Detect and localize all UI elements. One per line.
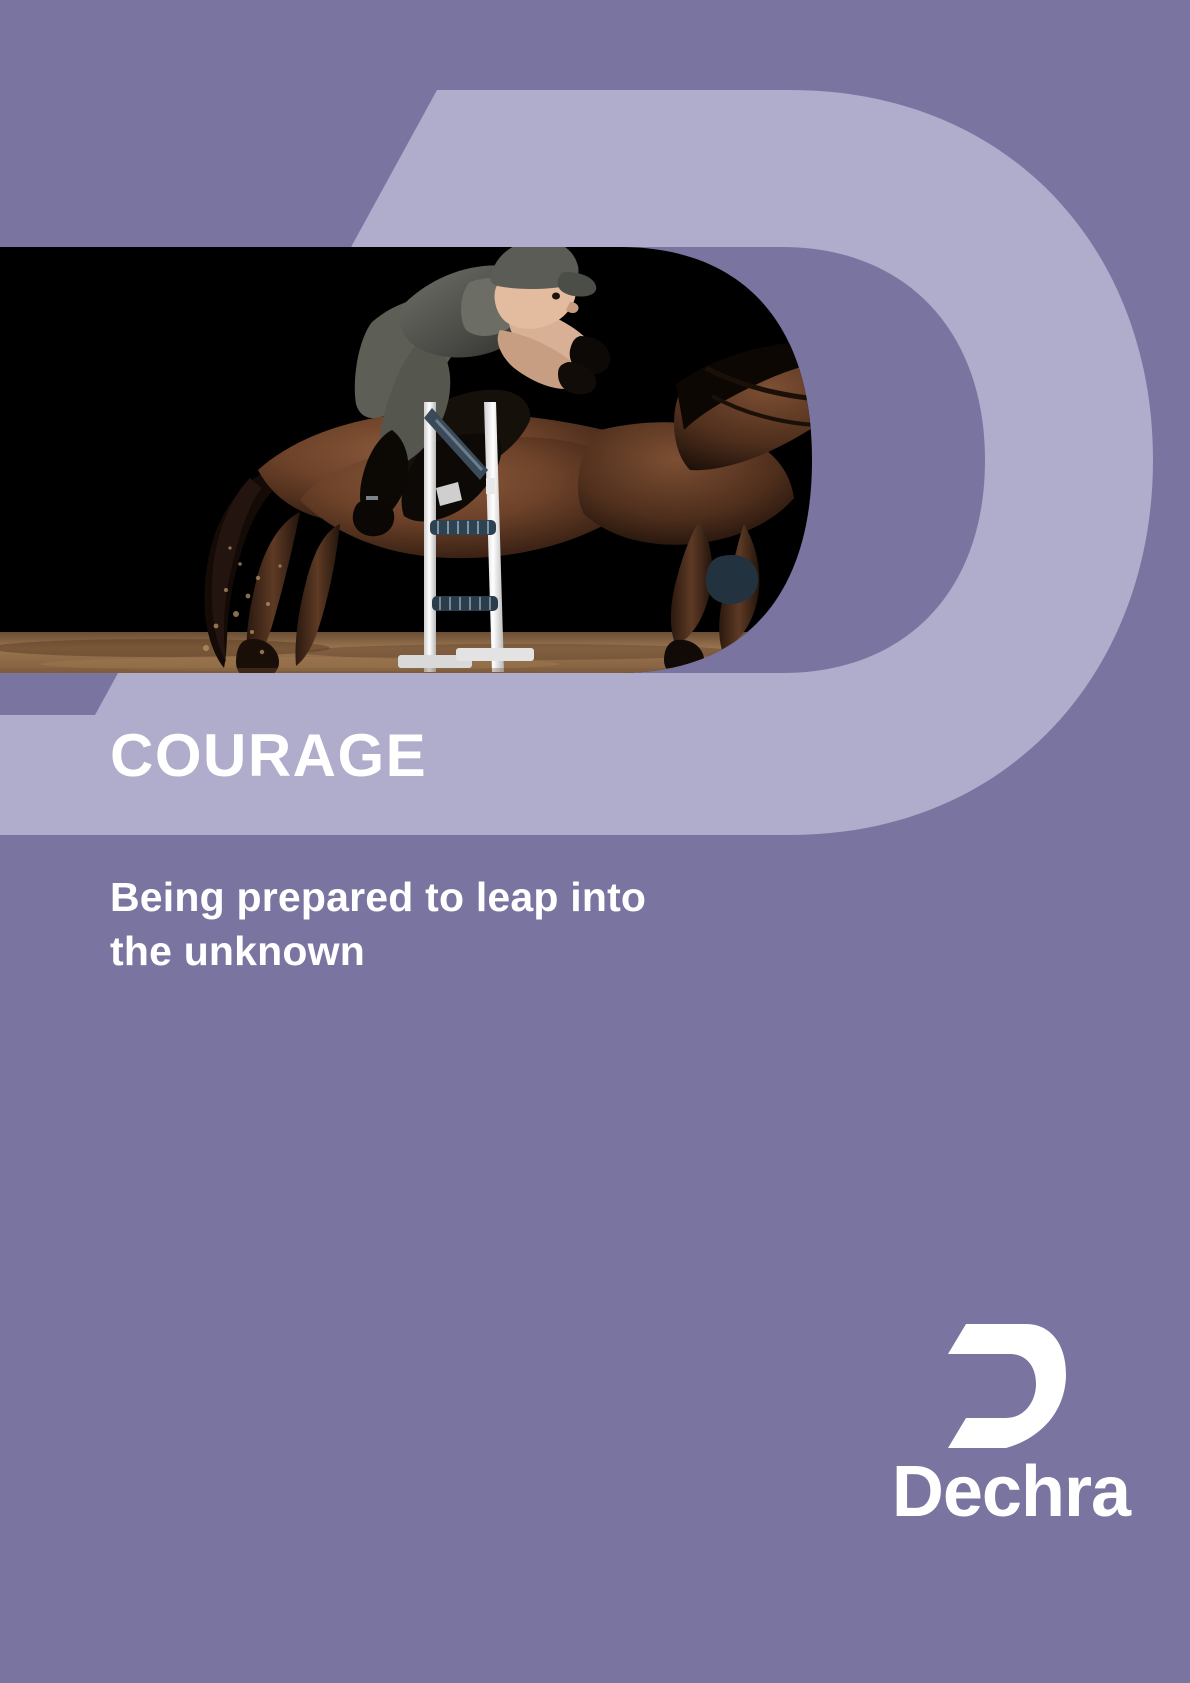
page-subtitle: Being prepared to leap into the unknown (110, 870, 810, 978)
dechra-d-mark (948, 1322, 1066, 1452)
dechra-wordmark: Dechra (800, 1456, 1130, 1528)
subtitle-line-1: Being prepared to leap into (110, 870, 810, 924)
dechra-logo: Dechra (800, 1322, 1130, 1528)
subtitle-line-2: the unknown (110, 924, 810, 978)
page-title: COURAGE (110, 726, 427, 786)
poster-page: COURAGE Being prepared to leap into the … (0, 0, 1190, 1683)
